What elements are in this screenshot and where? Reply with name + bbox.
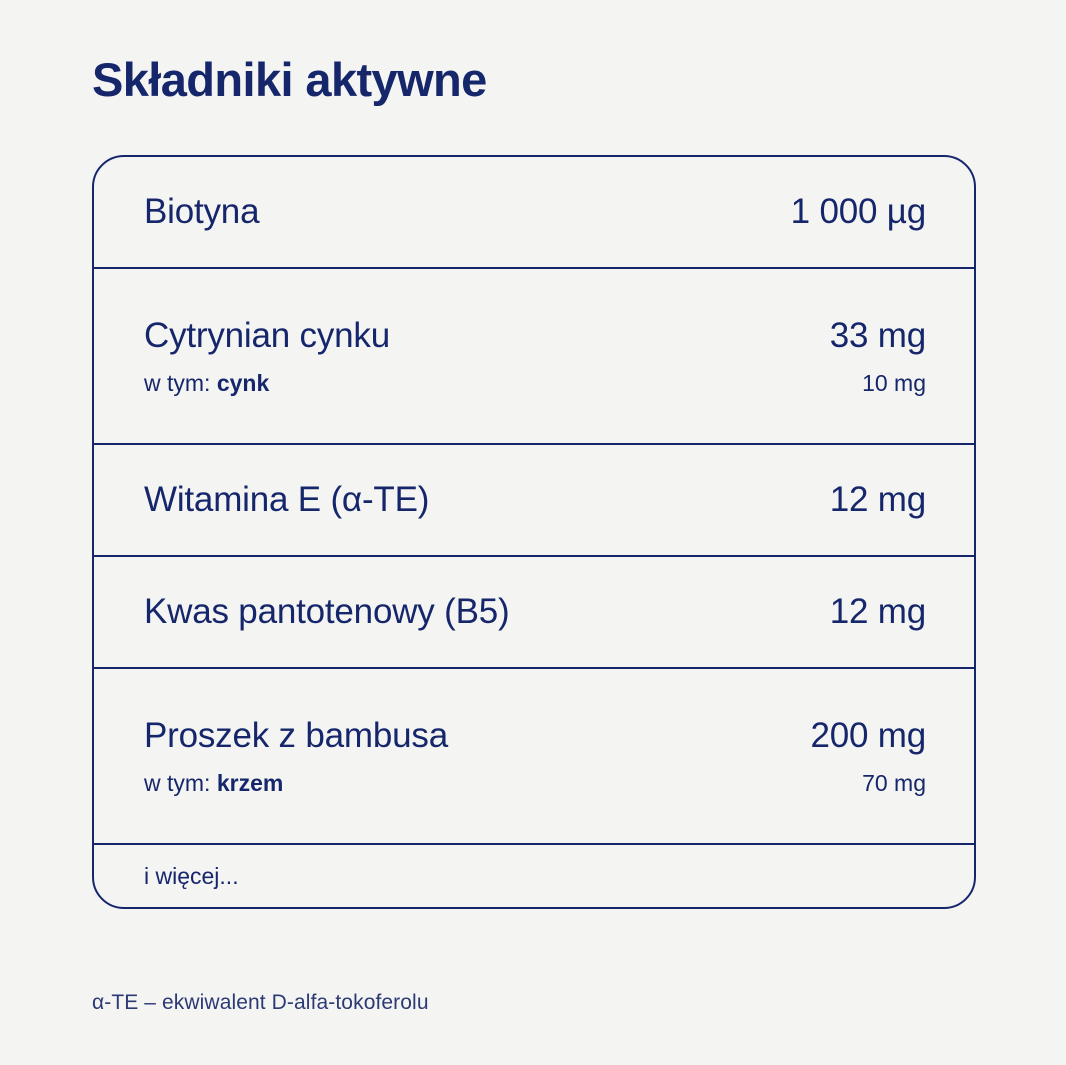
row-main-line: Witamina E (α-TE) 12 mg [144, 480, 926, 520]
row-main-line: Cytrynian cynku 33 mg [144, 316, 926, 356]
ingredients-table: Biotyna 1 000 µg Cytrynian cynku 33 mg w… [92, 155, 976, 909]
row-sub-line: w tym: cynk 10 mg [144, 370, 926, 397]
ingredient-name: Witamina E (α-TE) [144, 480, 429, 520]
ingredient-amount: 200 mg [810, 716, 926, 756]
row-main-line: Kwas pantotenowy (B5) 12 mg [144, 592, 926, 632]
sub-component-label: cynk [217, 370, 269, 396]
ingredient-amount: 12 mg [830, 480, 926, 520]
ingredient-name: Proszek z bambusa [144, 716, 448, 756]
ingredient-sub-amount: 10 mg [862, 370, 926, 397]
table-row: Witamina E (α-TE) 12 mg [94, 445, 974, 557]
more-ingredients-label[interactable]: i więcej... [144, 863, 926, 890]
ingredient-amount: 1 000 µg [791, 192, 926, 232]
ingredient-name: Kwas pantotenowy (B5) [144, 592, 509, 632]
table-row: Proszek z bambusa 200 mg w tym: krzem 70… [94, 669, 974, 845]
active-ingredients-page: Składniki aktywne Biotyna 1 000 µg Cytry… [0, 0, 1066, 1065]
ingredient-sub-amount: 70 mg [862, 770, 926, 797]
table-row: Cytrynian cynku 33 mg w tym: cynk 10 mg [94, 269, 974, 445]
sub-component-label: krzem [217, 770, 283, 796]
row-main-line: Proszek z bambusa 200 mg [144, 716, 926, 756]
ingredient-amount: 12 mg [830, 592, 926, 632]
page-title: Składniki aktywne [92, 52, 487, 107]
table-row: Biotyna 1 000 µg [94, 157, 974, 269]
footnote-text: α-TE – ekwiwalent D-alfa-tokoferolu [92, 991, 429, 1015]
sub-prefix-label: w tym: [144, 370, 217, 396]
ingredient-name: Biotyna [144, 192, 259, 232]
table-row: Kwas pantotenowy (B5) 12 mg [94, 557, 974, 669]
table-row-more[interactable]: i więcej... [94, 845, 974, 907]
ingredient-sub-name: w tym: cynk [144, 370, 269, 397]
row-main-line: Biotyna 1 000 µg [144, 192, 926, 232]
ingredient-name: Cytrynian cynku [144, 316, 390, 356]
ingredient-amount: 33 mg [830, 316, 926, 356]
sub-prefix-label: w tym: [144, 770, 217, 796]
row-sub-line: w tym: krzem 70 mg [144, 770, 926, 797]
ingredient-sub-name: w tym: krzem [144, 770, 283, 797]
